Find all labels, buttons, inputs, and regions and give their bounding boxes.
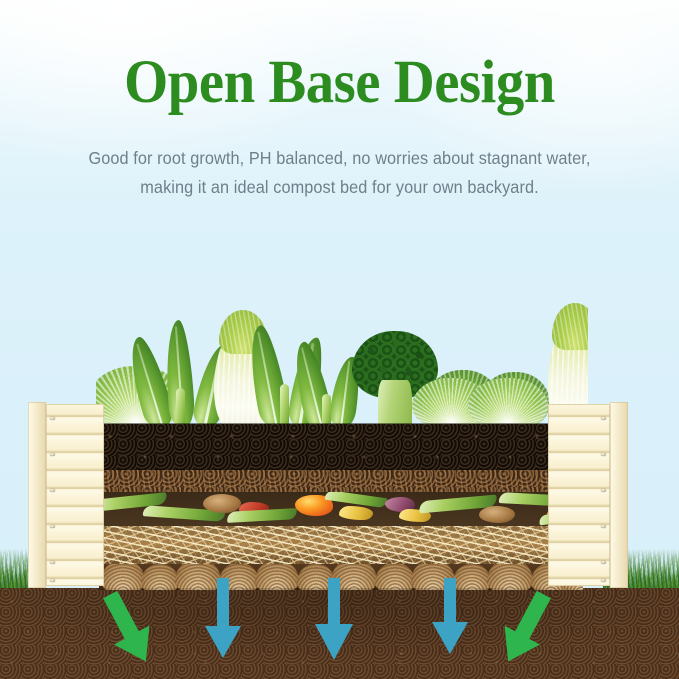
log-end-5 (255, 564, 299, 590)
frame-screw (50, 525, 55, 528)
bed-frame-left-post (28, 402, 46, 588)
frame-screw (601, 561, 606, 564)
plant-green-cabbage-3 (468, 378, 548, 428)
scrap-peel-1 (339, 506, 373, 520)
log-end-2 (141, 564, 179, 590)
frame-screw (601, 579, 606, 582)
frame-screw (601, 489, 606, 492)
bed-frame-right (548, 404, 628, 586)
arrow-drainage-1 (203, 578, 243, 658)
garden-bed-illustration (0, 0, 679, 679)
plant-bok-choy-1-stalk (176, 388, 185, 428)
frame-screw (50, 561, 55, 564)
layer-kitchen-scraps (99, 492, 583, 526)
frame-screw (50, 453, 55, 456)
bed-frame-right-post (610, 402, 628, 588)
arrow-drainage-3 (430, 578, 470, 654)
promo-banner: Open Base Design Good for root growth, P… (0, 0, 679, 679)
plant-swiss-chard-stalk (280, 384, 289, 428)
layer-mulch-soil (99, 470, 583, 492)
frame-screw (601, 417, 606, 420)
soil-cross-section (99, 424, 583, 590)
scrap-potato-1 (203, 494, 241, 513)
log-end-8 (375, 564, 415, 590)
scrap-potato-2 (479, 506, 515, 523)
frame-screw (601, 525, 606, 528)
arrow-drainage-2 (313, 578, 355, 660)
bed-frame-right-slats (548, 404, 610, 586)
frame-screw (50, 489, 55, 492)
vegetable-canopy (96, 300, 588, 428)
frame-screw (601, 453, 606, 456)
bed-frame-left-slats (46, 404, 104, 586)
layer-compost-soil (99, 424, 583, 470)
bed-frame-left (28, 404, 104, 586)
frame-screw (50, 417, 55, 420)
layer-straw-shavings (99, 526, 583, 564)
broccoli-stem (378, 380, 412, 428)
scrap-green-stem-3 (227, 508, 297, 523)
frame-screw (50, 579, 55, 582)
